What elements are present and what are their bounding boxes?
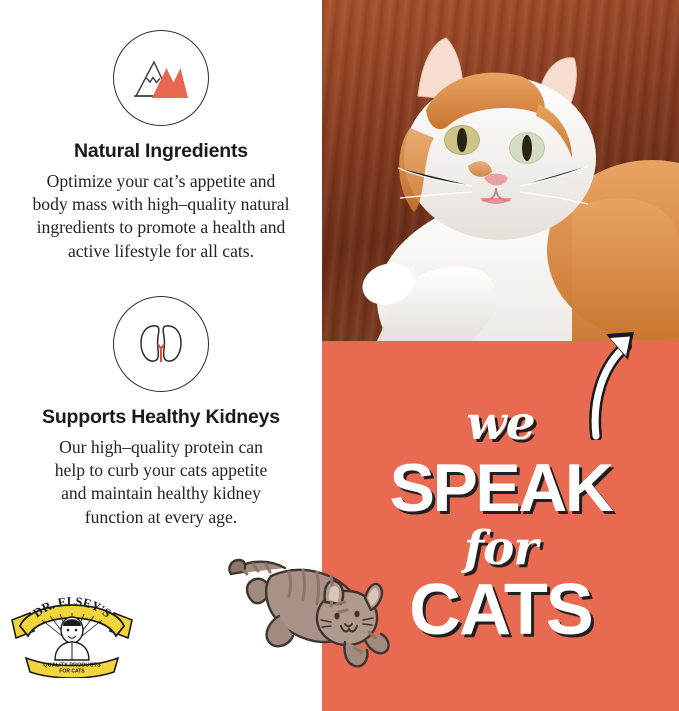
feature-body-line: Our high–quality protein can <box>13 436 309 459</box>
feature-title: Natural Ingredients <box>0 140 322 163</box>
cat-photo <box>322 0 679 341</box>
feature-body-line: and maintain healthy kidney <box>13 482 309 505</box>
feature-body-line: body mass with high–quality natural <box>13 193 309 216</box>
feature-body: Our high–quality protein can help to cur… <box>13 436 309 529</box>
feature-body-line: function at every age. <box>13 506 309 529</box>
feature-body-line: ingredients to promote a health and <box>13 216 309 239</box>
feature-title: Supports Healthy Kidneys <box>0 406 322 429</box>
dr-elseys-logo: DR. ELSEY'S QUALITY PROD <box>8 586 136 678</box>
feature-natural-ingredients: Natural Ingredients Optimize your cat’s … <box>0 30 322 263</box>
logo-banner-line2: FOR CATS <box>59 669 85 675</box>
promotional-banner: Natural Ingredients Optimize your cat’s … <box>0 0 679 711</box>
kidneys-icon <box>113 296 209 392</box>
mountain-icon <box>113 30 209 126</box>
leaping-tabby-cat-illustration <box>219 546 391 670</box>
slogan-word-we: we <box>322 396 679 451</box>
feature-body: Optimize your cat’s appetite and body ma… <box>13 170 309 263</box>
feature-supports-healthy-kidneys: Supports Healthy Kidneys Our high–qualit… <box>0 296 322 529</box>
feature-body-line: Optimize your cat’s appetite and <box>13 170 309 193</box>
feature-body-line: help to curb your cats appetite <box>13 459 309 482</box>
slogan-word-speak: SPEAK <box>322 449 679 527</box>
feature-body-line: active lifestyle for all cats. <box>13 240 309 263</box>
